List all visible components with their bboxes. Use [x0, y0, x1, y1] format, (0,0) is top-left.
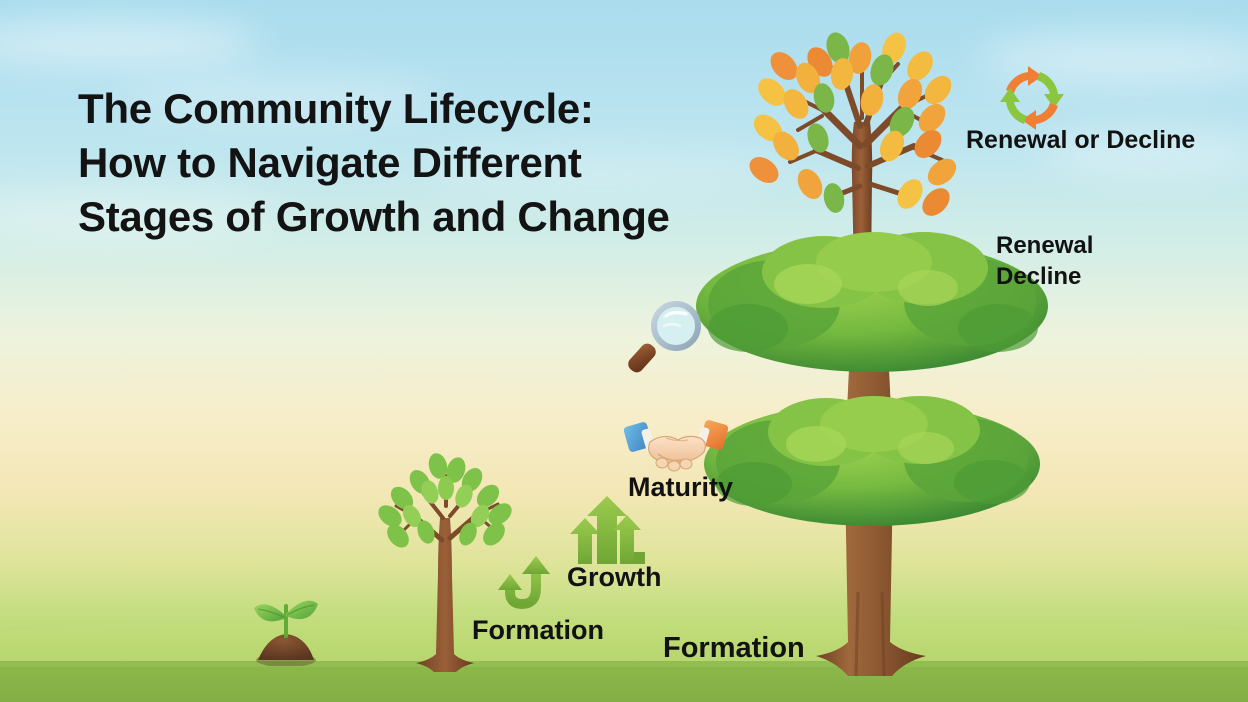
title-line-1: The Community Lifecycle:: [78, 82, 758, 136]
magnifying-glass-icon: [628, 298, 708, 376]
stage-label-growth: Growth: [567, 562, 662, 593]
handshake-icon: [624, 418, 728, 476]
seedling-sprout-illustration: [248, 592, 324, 666]
page-title: The Community Lifecycle: How to Navigate…: [78, 82, 758, 244]
mature-tree-illustration: [688, 232, 1062, 676]
title-line-2: How to Navigate Different: [78, 136, 758, 190]
title-line-3: Stages of Growth and Change: [78, 190, 758, 244]
infographic-canvas: The Community Lifecycle: How to Navigate…: [0, 0, 1248, 702]
curved-up-arrow-icon: [498, 556, 554, 614]
stage-label-renewal-or-decline: Renewal or Decline: [966, 126, 1195, 155]
recycle-cycle-icon: [993, 62, 1071, 134]
overlay-label-renewal: Renewal: [996, 232, 1093, 260]
stage-label-maturity: Maturity: [628, 472, 733, 503]
stage-label-formation: Formation: [472, 615, 604, 646]
cloud-wisp: [0, 20, 260, 66]
overlay-label-decline: Decline: [996, 263, 1081, 291]
growth-arrows-icon: [566, 496, 648, 564]
overlay-label-formation: Formation: [663, 632, 805, 665]
